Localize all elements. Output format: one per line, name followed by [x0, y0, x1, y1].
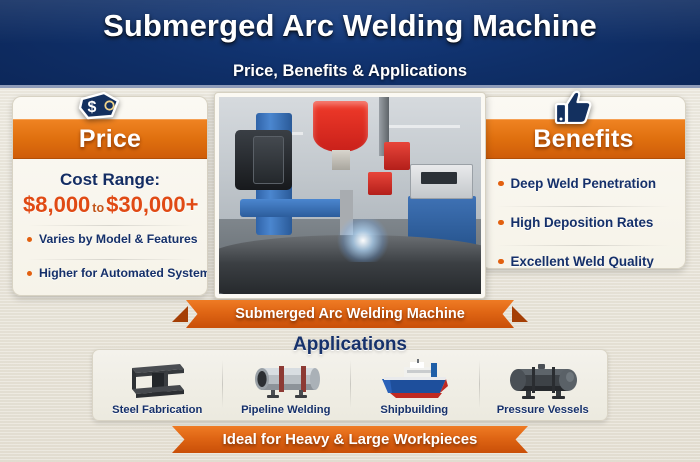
photo-red-flux-hopper — [313, 101, 368, 152]
ribbon-tail-right — [512, 306, 528, 322]
photo-keypad-panel — [253, 136, 284, 183]
page-title: Submerged Arc Welding Machine — [0, 8, 700, 44]
cost-range-label: Cost Range: — [23, 170, 197, 190]
price-card-body: Cost Range: $8,000to$30,000+ Varies by M… — [13, 159, 207, 294]
price-bullet-1: Higher for Automated Systems — [23, 260, 197, 286]
bullet-dot-icon — [27, 237, 32, 242]
cost-max: $30,000+ — [106, 192, 198, 217]
application-label: Steel Fabrication — [112, 404, 202, 416]
benefit-bullet-1: High Deposition Rates — [492, 207, 675, 238]
application-label: Shipbuilding — [380, 404, 448, 416]
photo-red-box — [384, 142, 410, 170]
svg-text:$: $ — [88, 99, 97, 116]
application-item-pipeline-welding[interactable]: Pipeline Welding — [222, 350, 351, 420]
photo-weld-arc-glow — [334, 219, 392, 262]
application-label: Pressure Vessels — [497, 404, 589, 416]
application-item-shipbuilding[interactable]: Shipbuilding — [350, 350, 479, 420]
machine-photo — [219, 97, 481, 294]
photo-hopper-neck — [332, 150, 350, 170]
price-bullet-1-label: Higher for Automated Systems — [39, 266, 208, 280]
benefits-card-body: Deep Weld Penetration High Deposition Ra… — [482, 159, 685, 269]
benefit-bullet-2: Excellent Weld Quality — [492, 246, 675, 269]
thumbs-up-icon — [553, 90, 593, 129]
cost-connector: to — [92, 201, 104, 215]
cost-min: $8,000 — [23, 192, 90, 217]
photo-blue-arm — [240, 199, 345, 217]
pipe-icon — [222, 358, 351, 404]
photo-caption-ribbon: Submerged Arc Welding Machine — [186, 300, 514, 328]
photo-control-screen — [421, 172, 458, 184]
page-subtitle: Price, Benefits & Applications — [0, 62, 700, 81]
price-bullet-0-label: Varies by Model & Features — [39, 232, 198, 246]
application-item-pressure-vessels[interactable]: Pressure Vessels — [479, 350, 608, 420]
application-label: Pipeline Welding — [241, 404, 330, 416]
bullet-dot-icon — [498, 181, 504, 187]
applications-title: Applications — [0, 334, 700, 356]
photo-wall-light — [381, 125, 460, 128]
price-bullet-0: Varies by Model & Features — [23, 226, 197, 252]
photo-red-box — [368, 172, 392, 196]
benefit-bullet-1-label: High Deposition Rates — [511, 215, 654, 230]
application-item-steel-fabrication[interactable]: Steel Fabrication — [93, 350, 222, 420]
price-tag-icon: $ — [78, 90, 122, 127]
bullet-dot-icon — [498, 220, 504, 226]
applications-panel: Steel Fabrication P — [92, 349, 608, 421]
benefit-bullet-0-label: Deep Weld Penetration — [511, 176, 657, 191]
i-beam-icon — [93, 358, 222, 404]
bullet-dot-icon — [27, 271, 32, 276]
benefit-bullet-2-label: Excellent Weld Quality — [511, 254, 654, 269]
pressure-vessel-icon — [479, 358, 608, 404]
price-card-title: Price — [79, 125, 141, 154]
ribbon-tail-left — [172, 306, 188, 322]
benefit-bullet-0: Deep Weld Penetration — [492, 168, 675, 199]
footer-ribbon: Ideal for Heavy & Large Workpieces — [172, 426, 528, 453]
bullet-dot-icon — [498, 259, 504, 265]
machine-photo-frame — [214, 92, 486, 299]
cost-range-value: $8,000to$30,000+ — [23, 192, 197, 218]
infographic-poster: Submerged Arc Welding Machine Price, Ben… — [0, 0, 700, 462]
header-banner: Submerged Arc Welding Machine Price, Ben… — [0, 0, 700, 88]
photo-caption-text: Submerged Arc Welding Machine — [235, 306, 465, 322]
footer-ribbon-text: Ideal for Heavy & Large Workpieces — [223, 431, 478, 448]
ship-icon — [350, 358, 479, 404]
